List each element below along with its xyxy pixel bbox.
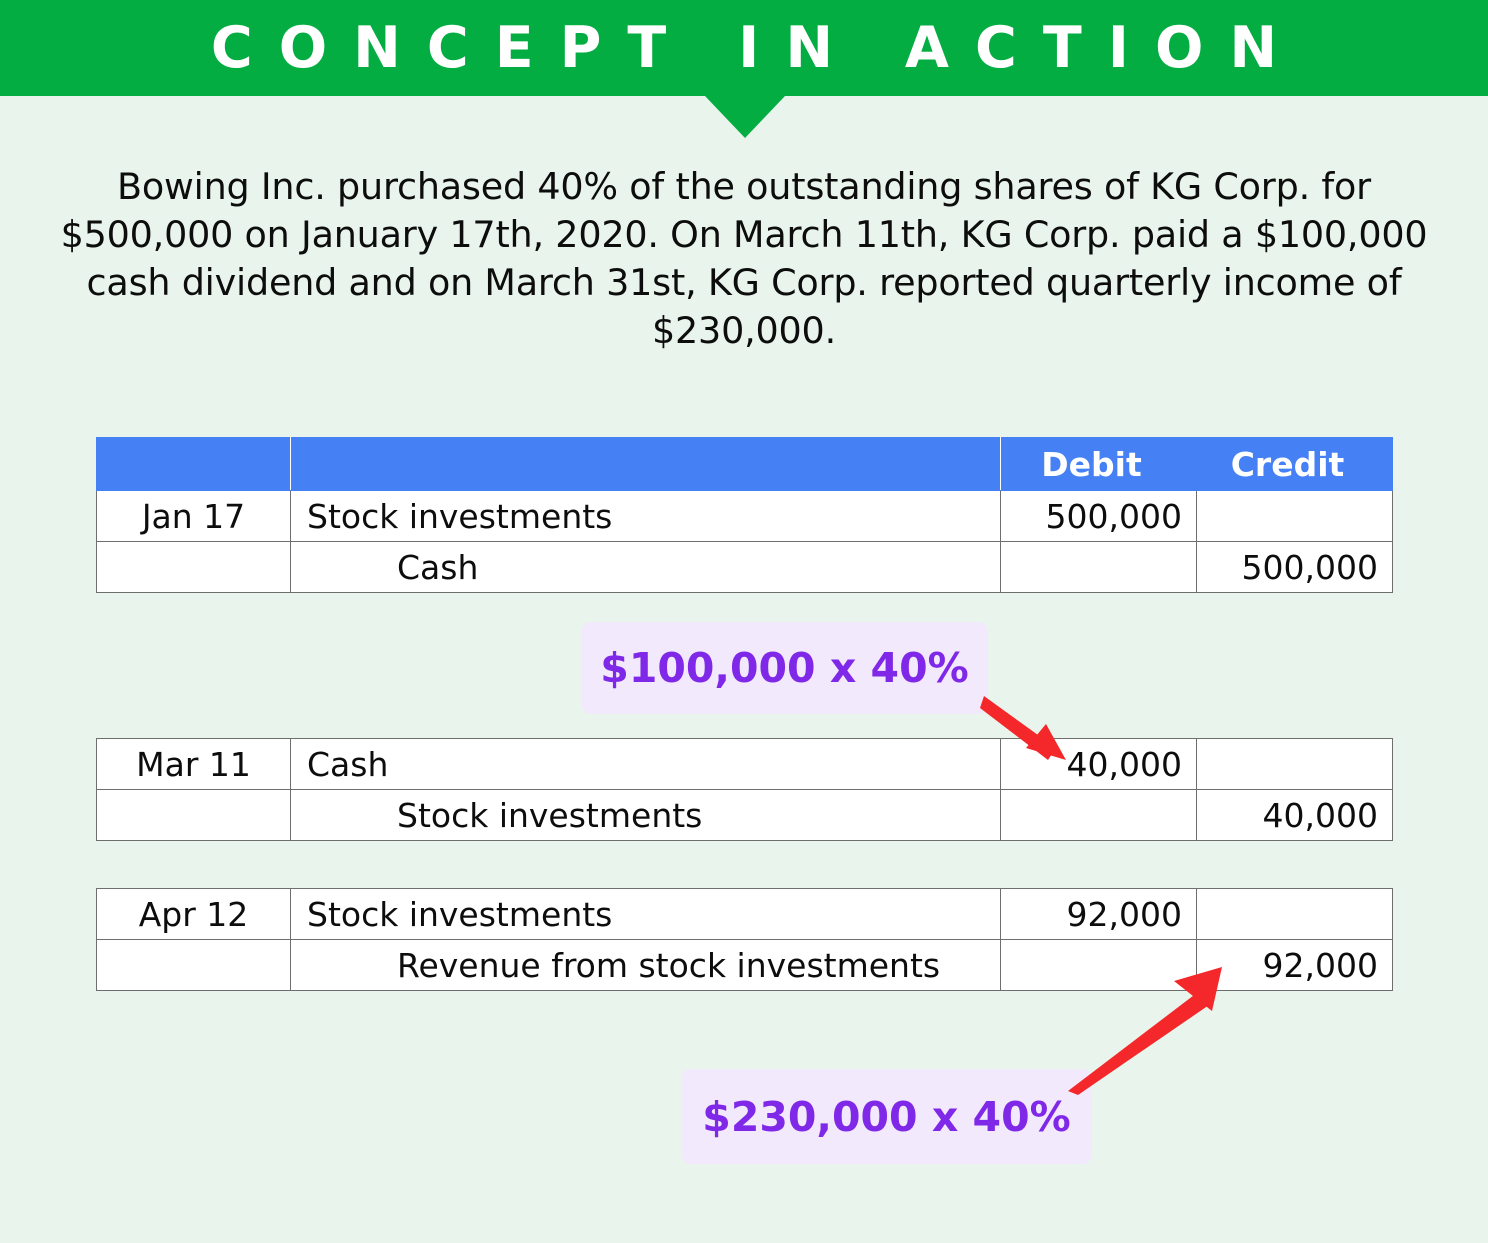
cell-account: Stock investments (291, 889, 1001, 940)
cell-account: Stock investments (291, 790, 1001, 841)
cell-debit: 92,000 (1001, 889, 1197, 940)
table-row: Mar 11 Cash 40,000 (97, 739, 1393, 790)
table-row: Revenue from stock investments 92,000 (97, 940, 1393, 991)
header-blank-account (291, 438, 1001, 491)
table-row: Apr 12 Stock investments 92,000 (97, 889, 1393, 940)
cell-debit: 500,000 (1001, 491, 1197, 542)
table-row: Stock investments 40,000 (97, 790, 1393, 841)
cell-debit (1001, 542, 1197, 593)
cell-credit: 40,000 (1197, 790, 1393, 841)
cell-date: Apr 12 (97, 889, 291, 940)
cell-date: Mar 11 (97, 739, 291, 790)
cell-account: Stock investments (291, 491, 1001, 542)
cell-credit: 92,000 (1197, 940, 1393, 991)
cell-credit (1197, 889, 1393, 940)
cell-date (97, 542, 291, 593)
cell-debit (1001, 790, 1197, 841)
scenario-description: Bowing Inc. purchased 40% of the outstan… (40, 163, 1448, 355)
journal-entry-table-3: Apr 12 Stock investments 92,000 Revenue … (96, 888, 1393, 991)
header-blank-date (97, 438, 291, 491)
concept-in-action-graphic: CONCEPT IN ACTION Bowing Inc. purchased … (0, 0, 1488, 1243)
journal-entry-table-1: Debit Credit Jan 17 Stock investments 50… (96, 437, 1393, 593)
header-credit: Credit (1197, 438, 1393, 491)
table-row: Cash 500,000 (97, 542, 1393, 593)
table-row: Jan 17 Stock investments 500,000 (97, 491, 1393, 542)
triangle-down-icon (705, 96, 785, 138)
cell-credit (1197, 491, 1393, 542)
cell-date (97, 940, 291, 991)
header-debit: Debit (1001, 438, 1197, 491)
header-banner: CONCEPT IN ACTION (0, 0, 1488, 96)
cell-date: Jan 17 (97, 491, 291, 542)
table-1-header-row: Debit Credit (97, 438, 1393, 491)
cell-account: Cash (291, 542, 1001, 593)
cell-debit: 40,000 (1001, 739, 1197, 790)
cell-account: Cash (291, 739, 1001, 790)
cell-credit: 500,000 (1197, 542, 1393, 593)
cell-credit (1197, 739, 1393, 790)
annotation-dividend-calculation: $100,000 x 40% (581, 622, 988, 714)
cell-date (97, 790, 291, 841)
cell-account: Revenue from stock investments (291, 940, 1001, 991)
page-title: CONCEPT IN ACTION (185, 20, 1303, 77)
cell-debit (1001, 940, 1197, 991)
annotation-income-calculation: $230,000 x 40% (681, 1069, 1092, 1164)
journal-entry-table-2: Mar 11 Cash 40,000 Stock investments 40,… (96, 738, 1393, 841)
